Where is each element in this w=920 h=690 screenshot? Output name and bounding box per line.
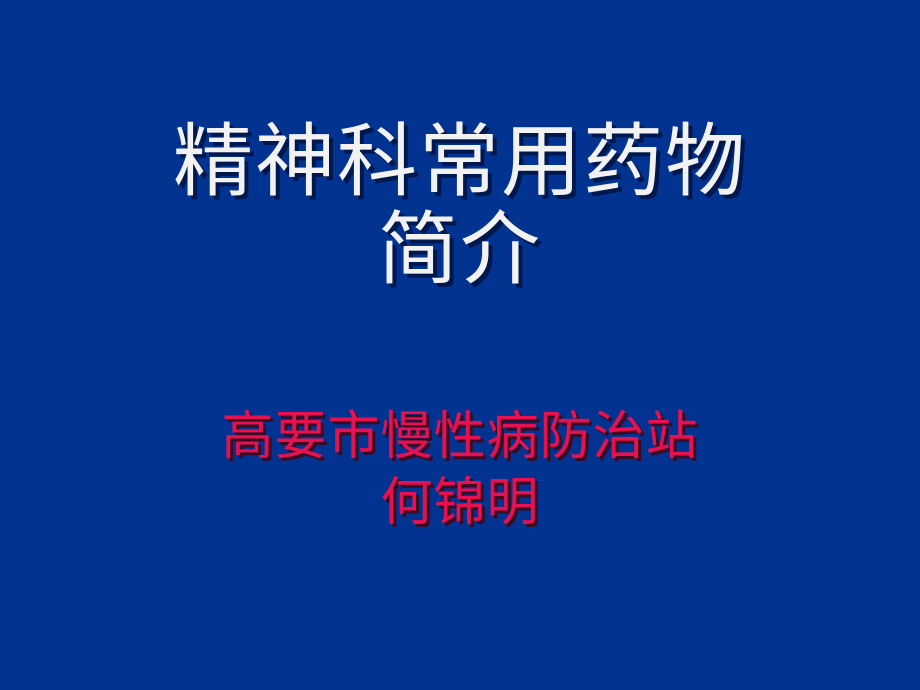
slide-subtitle-author: 何锦明 bbox=[0, 470, 920, 536]
slide-subtitle-organization: 高要市慢性病防治站 bbox=[0, 404, 920, 470]
presentation-slide: 精神科常用药物 简介 高要市慢性病防治站 何锦明 bbox=[0, 0, 920, 690]
slide-subtitle: 高要市慢性病防治站 何锦明 bbox=[0, 404, 920, 536]
slide-title-line-2: 简介 bbox=[0, 206, 920, 294]
slide-title: 精神科常用药物 简介 bbox=[0, 118, 920, 294]
slide-title-line-1: 精神科常用药物 bbox=[0, 118, 920, 206]
